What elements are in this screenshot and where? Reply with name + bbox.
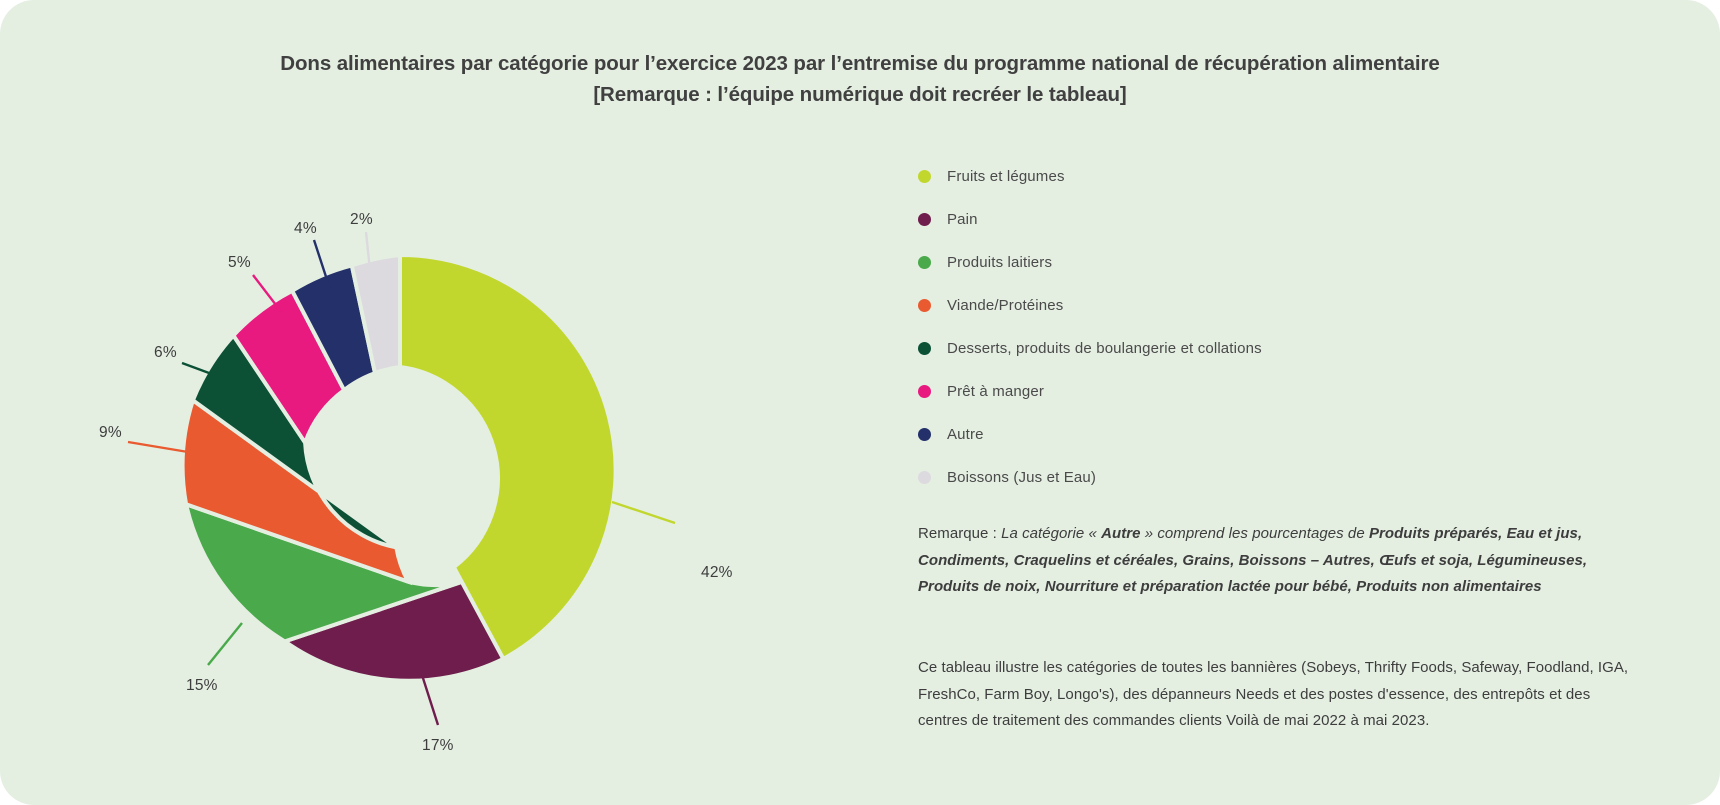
legend-item-desserts[interactable]: Desserts, produits de boulangerie et col… — [918, 327, 1618, 370]
note-italic-2: » comprend les pourcentages de — [1141, 525, 1369, 542]
legend-swatch-icon — [918, 471, 931, 484]
legend-item-label: Viande/Protéines — [947, 297, 1063, 314]
legend-item-label: Produits laitiers — [947, 254, 1052, 271]
legend-item-label: Fruits et légumes — [947, 168, 1065, 185]
legend-item-label: Boissons (Jus et Eau) — [947, 469, 1096, 486]
legend-item-label: Desserts, produits de boulangerie et col… — [947, 340, 1262, 357]
page-title-line-1: Dons alimentaires par catégorie pour l’e… — [280, 52, 1439, 75]
pct-label-boissons: 2% — [350, 211, 373, 229]
page-title: Dons alimentaires par catégorie pour l’e… — [120, 48, 1600, 110]
legend-item-autre[interactable]: Autre — [918, 413, 1618, 456]
legend-item-produits-laitiers[interactable]: Produits laitiers — [918, 241, 1618, 284]
donut-slices — [183, 255, 616, 681]
legend-swatch-icon — [918, 342, 931, 355]
pct-label-pain: 17% — [422, 737, 454, 755]
legend-swatch-icon — [918, 170, 931, 183]
legend-item-fruits-et-legumes[interactable]: Fruits et légumes — [918, 155, 1618, 198]
leader-line-17 — [422, 675, 438, 725]
pct-label-viande-proteines: 9% — [99, 424, 122, 442]
chart-legend: Fruits et légumes Pain Produits laitiers… — [918, 155, 1618, 499]
leader-line-15 — [208, 623, 242, 665]
note-bold-1: Autre — [1101, 525, 1140, 542]
pct-label-autre: 4% — [294, 220, 317, 238]
legend-item-pret-a-manger[interactable]: Prêt à manger — [918, 370, 1618, 413]
legend-swatch-icon — [918, 299, 931, 312]
note-italic-1: La catégorie « — [1001, 525, 1101, 542]
legend-item-label: Pain — [947, 211, 978, 228]
leader-line-9 — [128, 442, 188, 452]
note-prefix: Remarque : — [918, 525, 1001, 542]
chart-description: Ce tableau illustre les catégories de to… — [918, 655, 1643, 735]
donut-chart: 42% 17% 15% 9% 6% 5% 4% 2% — [60, 120, 840, 760]
legend-item-pain[interactable]: Pain — [918, 198, 1618, 241]
legend-item-viande-proteines[interactable]: Viande/Protéines — [918, 284, 1618, 327]
legend-swatch-icon — [918, 256, 931, 269]
chart-note: Remarque : La catégorie « Autre » compre… — [918, 521, 1643, 601]
legend-item-boissons[interactable]: Boissons (Jus et Eau) — [918, 456, 1618, 499]
legend-swatch-icon — [918, 385, 931, 398]
donut-chart-svg — [60, 120, 840, 760]
legend-item-label: Autre — [947, 426, 984, 443]
page-title-line-2: [Remarque : l’équipe numérique doit recr… — [120, 79, 1600, 110]
pct-label-fruits-et-legumes: 42% — [701, 564, 733, 582]
chart-card: Dons alimentaires par catégorie pour l’e… — [0, 0, 1720, 805]
legend-swatch-icon — [918, 428, 931, 441]
legend-item-label: Prêt à manger — [947, 383, 1044, 400]
legend-swatch-icon — [918, 213, 931, 226]
pct-label-pret-a-manger: 5% — [228, 254, 251, 272]
pct-label-desserts: 6% — [154, 344, 177, 362]
leader-line-42 — [612, 502, 675, 523]
pct-label-produits-laitiers: 15% — [186, 677, 218, 695]
